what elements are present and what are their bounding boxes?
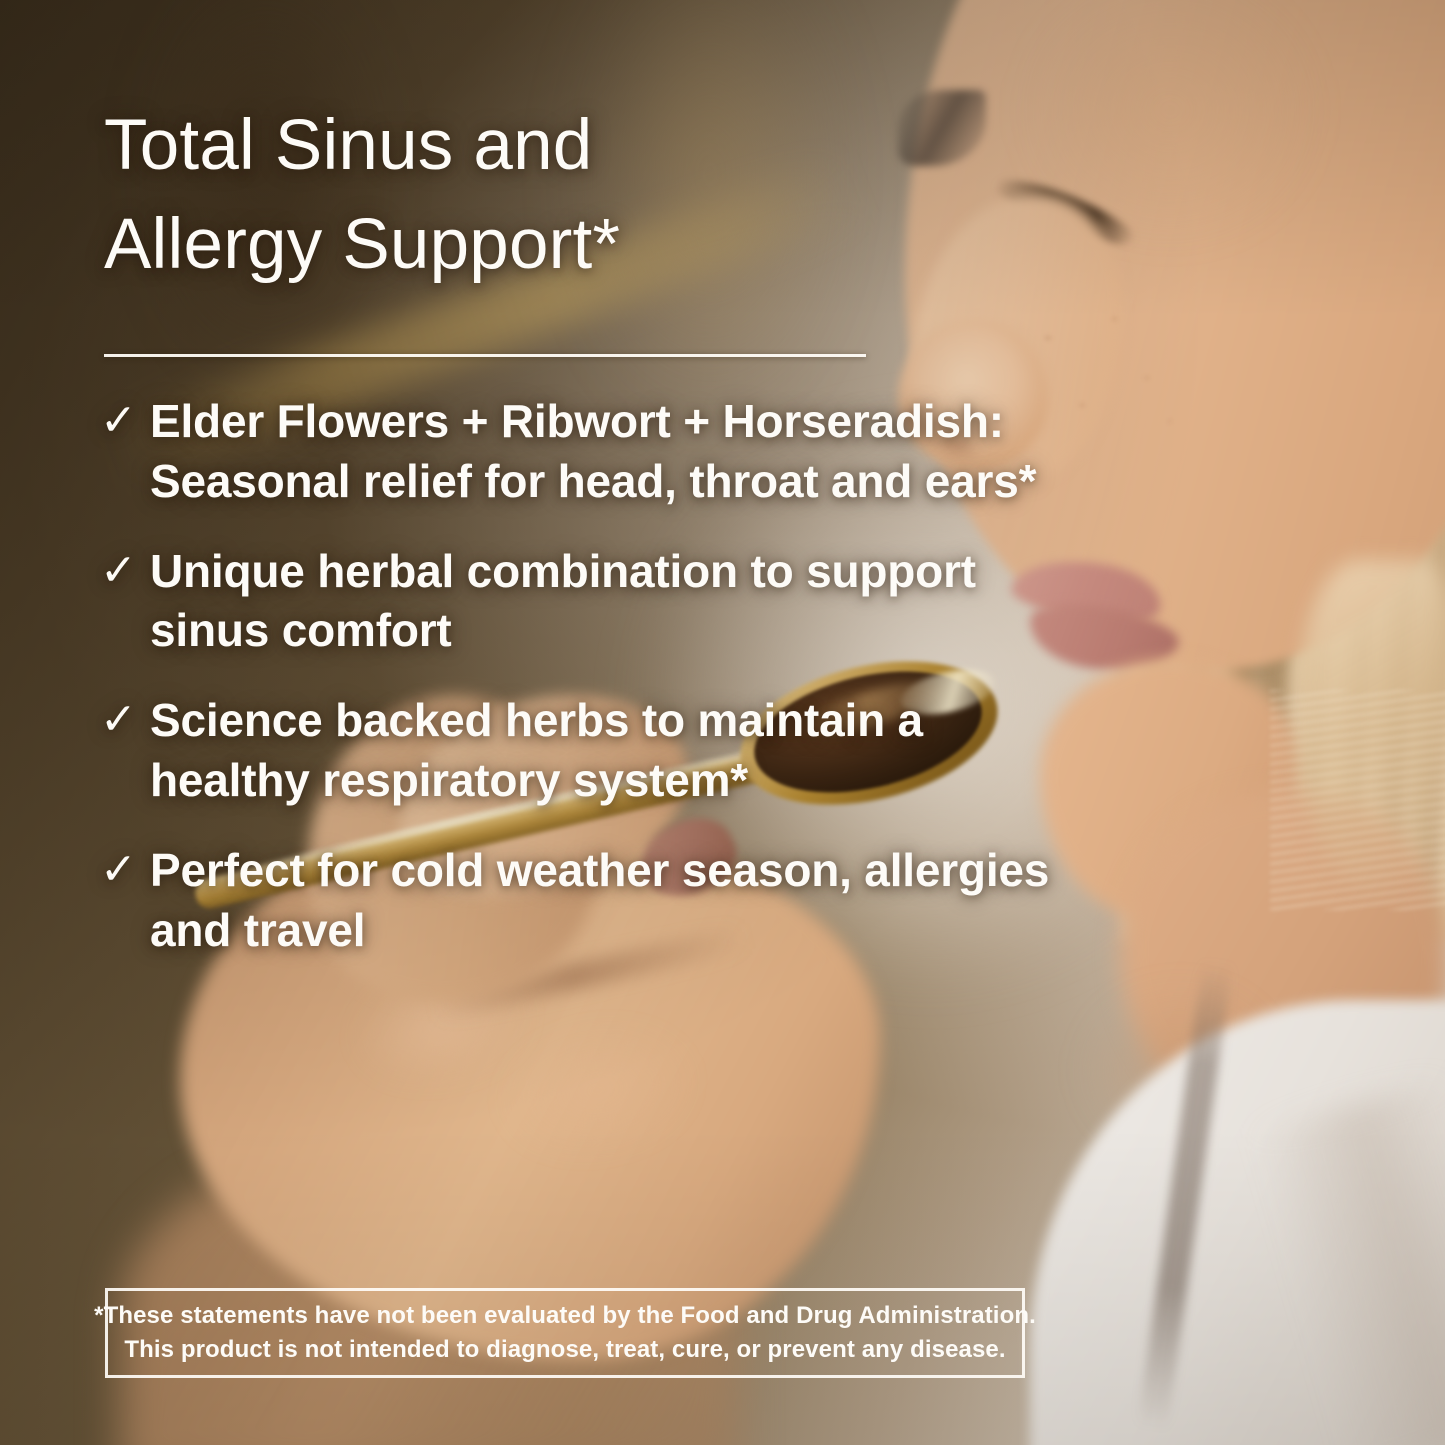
list-item: ✓ Unique herbal combination to support s… xyxy=(100,542,1060,662)
list-item-label: Science backed herbs to maintain a healt… xyxy=(150,691,1060,811)
fda-disclaimer-box: *These statements have not been evaluate… xyxy=(105,1288,1025,1378)
headline-line-2: Allergy Support* xyxy=(104,195,924,294)
product-marketing-image: Total Sinus and Allergy Support* ✓ Elder… xyxy=(0,0,1445,1445)
headline-line-1: Total Sinus and xyxy=(104,96,924,195)
list-item-label: Unique herbal combination to support sin… xyxy=(150,542,1060,662)
list-item: ✓ Perfect for cold weather season, aller… xyxy=(100,841,1060,961)
checkmark-icon: ✓ xyxy=(100,392,150,449)
page-title: Total Sinus and Allergy Support* xyxy=(104,96,924,295)
checkmark-icon: ✓ xyxy=(100,542,150,599)
disclaimer-line-1: *These statements have not been evaluate… xyxy=(94,1299,1036,1333)
benefits-list: ✓ Elder Flowers + Ribwort + Horseradish:… xyxy=(100,392,1060,990)
checkmark-icon: ✓ xyxy=(100,691,150,748)
checkmark-icon: ✓ xyxy=(100,841,150,898)
disclaimer-line-2: This product is not intended to diagnose… xyxy=(124,1333,1005,1367)
list-item-label: Elder Flowers + Ribwort + Horseradish: S… xyxy=(150,392,1060,512)
list-item-label: Perfect for cold weather season, allergi… xyxy=(150,841,1060,961)
divider-rule xyxy=(104,354,866,357)
list-item: ✓ Elder Flowers + Ribwort + Horseradish:… xyxy=(100,392,1060,512)
text-overlay: Total Sinus and Allergy Support* ✓ Elder… xyxy=(0,0,1445,1445)
list-item: ✓ Science backed herbs to maintain a hea… xyxy=(100,691,1060,811)
